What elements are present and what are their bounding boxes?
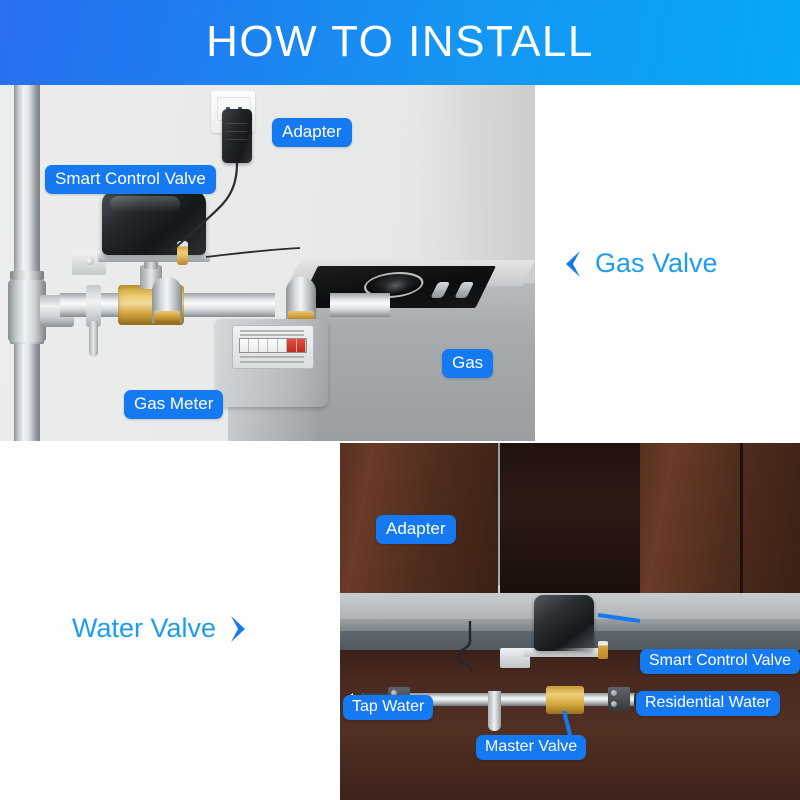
register-digit xyxy=(240,339,249,352)
register-digit xyxy=(249,339,258,352)
cabinet-open-bay xyxy=(500,443,640,593)
burner-core xyxy=(379,280,411,293)
label-gas: Gas xyxy=(442,349,493,378)
horizontal-gas-pipe-right xyxy=(330,293,390,317)
meter-print-line-4 xyxy=(240,361,304,363)
adapter-seam-1 xyxy=(227,123,247,124)
water-valve-label: Water Valve xyxy=(72,613,216,644)
pipe-clamp xyxy=(488,691,501,731)
gas-valve-callout: Gas Valve xyxy=(560,248,718,279)
meter-print-line-2 xyxy=(240,334,304,336)
register-digit xyxy=(268,339,277,352)
water-valve-callout: Water Valve xyxy=(72,613,251,644)
meter-print-line-1 xyxy=(240,330,304,332)
label-smart-control-valve: Smart Control Valve xyxy=(45,165,216,194)
header-banner: HOW TO INSTALL xyxy=(0,0,800,85)
actuator-screw xyxy=(86,257,94,265)
bracket-screw xyxy=(611,701,617,707)
label-smart-control-valve: Smart Control Valve xyxy=(640,649,800,674)
gas-installation-image: Smart Control Valve Adapter Gas Meter Ga… xyxy=(0,85,535,441)
register-digit xyxy=(259,339,268,352)
pipe-clamp-hook xyxy=(89,321,98,357)
vertical-gas-pipe xyxy=(14,85,40,441)
power-adapter xyxy=(222,109,252,163)
pipe-bracket-right xyxy=(608,687,630,711)
gas-cooktop xyxy=(298,266,496,308)
brass-master-valve xyxy=(546,686,584,714)
gas-meter-body-lower xyxy=(228,403,316,441)
register-digit-decimal xyxy=(297,339,306,352)
chevron-right-icon xyxy=(227,614,251,644)
meter-union-left xyxy=(154,311,180,323)
valve-indicator-pin xyxy=(598,641,608,659)
coiled-cable xyxy=(452,621,482,681)
meter-print-line-3 xyxy=(240,356,304,358)
label-tap-water: Tap Water xyxy=(343,695,433,720)
gas-valve-label: Gas Valve xyxy=(595,248,718,279)
gas-meter-faceplate xyxy=(232,325,314,369)
valve-actuator xyxy=(102,191,206,255)
chevron-left-icon xyxy=(560,249,584,279)
register-digit-decimal xyxy=(287,339,296,352)
label-master-valve: Master Valve xyxy=(476,735,586,760)
cabinet-door-seam xyxy=(740,443,743,593)
valve-actuator xyxy=(534,595,594,651)
cabinet-door-right xyxy=(640,443,800,593)
label-adapter: Adapter xyxy=(376,515,456,544)
bracket-screw xyxy=(611,690,617,696)
water-installation-image: Adapter Smart Control Valve Residential … xyxy=(340,443,800,800)
valve-indicator-pin xyxy=(177,241,188,265)
label-residential-water: Residential Water xyxy=(636,691,780,716)
actuator-highlight xyxy=(110,196,180,212)
meter-register xyxy=(239,338,307,353)
cooktop-knob-left xyxy=(430,282,450,298)
page-title: HOW TO INSTALL xyxy=(206,17,594,67)
infographic-page: HOW TO INSTALL xyxy=(0,0,800,800)
pipe-ring-upper xyxy=(10,271,44,280)
register-digit xyxy=(278,339,287,352)
label-gas-meter: Gas Meter xyxy=(124,390,223,419)
adapter-seam-3 xyxy=(227,139,247,140)
cooktop-knob-right xyxy=(454,282,474,298)
label-adapter: Adapter xyxy=(272,118,352,147)
adapter-seam-2 xyxy=(227,131,247,132)
